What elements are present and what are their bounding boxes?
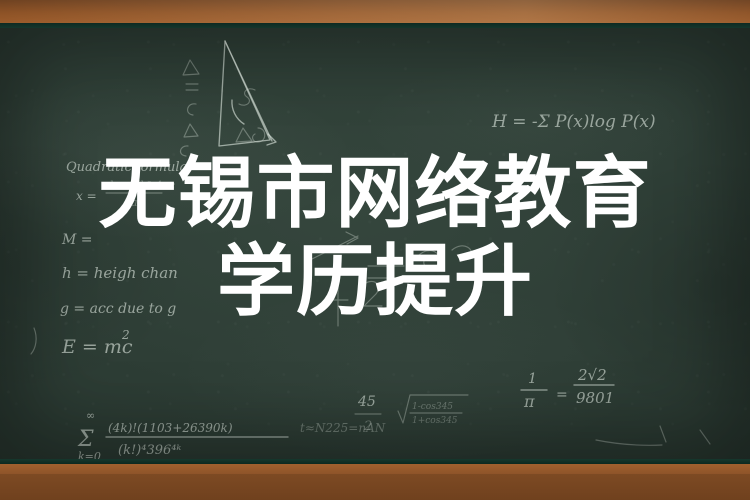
frame-bottom-wood <box>0 474 750 500</box>
chalkboard-banner: Quadratic formula x = -b ± √b²-4ac 2a M … <box>0 0 750 500</box>
headline-line-2: 学历提升 <box>0 238 750 326</box>
banner-headline: 无锡市网络教育 学历提升 <box>0 150 750 326</box>
frame-top-inner-edge <box>0 23 750 28</box>
headline-line-1: 无锡市网络教育 <box>0 150 750 238</box>
frame-top-highlight <box>0 0 750 23</box>
frame-bottom-chalk-ledge <box>0 464 750 474</box>
frame-top-wood <box>0 0 750 23</box>
